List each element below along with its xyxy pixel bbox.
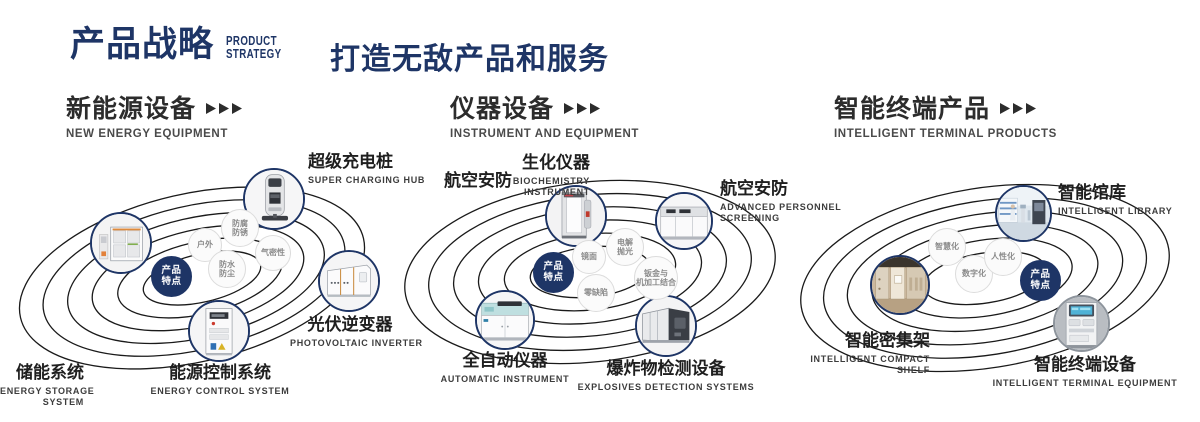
section-heading-en: INSTRUMENT AND EQUIPMENT [450,128,639,140]
node-automatic-instrument[interactable] [475,290,535,350]
section-heading-label: 新能源设备 [66,96,196,121]
feature-bubble: 电解 抛光 [606,228,644,266]
chevron-right-triple-icon [564,102,602,115]
feature-bubble-primary: 产品 特点 [533,252,574,293]
cluster-new-energy-equipment: 储能系统 ENERGY STORAGE SYSTEM 超级充电桩 SUPER C… [0,150,400,400]
inverter-cabinet-photo [320,252,378,310]
node-label-energy-storage-system: 储能系统 ENERGY STORAGE SYSTEM [0,364,84,408]
page-title-en-line2: STRATEGY [226,48,281,61]
product-strategy-infographic: 产品战略 PRODUCT STRATEGY 打造无敌产品和服务 新能源设备 NE… [0,0,1200,422]
feature-bubble: 零缺陷 [577,274,615,312]
section-heading-new-energy: 新能源设备 NEW ENERGY EQUIPMENT [66,96,244,140]
page-title-cn: 产品战略 [70,28,214,63]
feature-bubble-primary: 产品 特点 [151,256,192,297]
section-heading-en: INTELLIGENT TERMINAL PRODUCTS [834,128,1057,140]
page-title-en: PRODUCT STRATEGY [226,35,281,61]
feature-bubble: 镜面 [572,240,606,274]
node-energy-control-system[interactable] [188,300,250,362]
section-heading-label: 智能终端产品 [834,96,990,121]
page-title: 产品战略 PRODUCT STRATEGY [70,28,297,63]
node-label-explosives-detection-systems: 爆炸物检测设备 EXPLOSIVES DETECTION SYSTEMS [575,360,757,393]
section-heading-en: NEW ENERGY EQUIPMENT [66,128,244,140]
screening-machine-photo [657,194,711,248]
compact-shelf-photo [872,257,928,313]
feature-bubble: 钣金与 机加工结合 [634,256,678,300]
feature-bubble: 防水 防尘 [208,250,246,288]
section-heading-intelligent: 智能终端产品 INTELLIGENT TERMINAL PRODUCTS [834,96,1057,140]
node-intelligent-terminal-equipment[interactable] [1053,295,1110,352]
node-label-automatic-instrument: 全自动仪器 AUTOMATIC INSTRUMENT [425,352,585,385]
chevron-right-triple-icon [206,102,244,115]
feature-bubble: 防腐 防锈 [221,209,259,247]
node-intelligent-library[interactable] [995,185,1052,242]
cluster-intelligent-terminal-products: 智能馆库 INTELLIGENT LIBRARY 智能密集架 [800,150,1200,400]
node-label-energy-control-system: 能源控制系统 ENERGY CONTROL SYSTEM [110,364,330,397]
cluster-instrument-and-equipment: 航空安防 生化仪器 BIOCHEMISTRY INSTRUMENT [400,150,800,400]
library-interior-photo [997,187,1050,240]
node-explosives-detection-systems[interactable] [635,295,697,357]
node-label-intelligent-compact-shelf: 智能密集架 INTELLIGENT COMPACT SHELF [780,332,930,376]
automatic-analyzer-photo [477,292,533,348]
node-advanced-personnel-screening[interactable] [655,192,713,250]
feature-bubble-primary: 产品 特点 [1020,260,1061,301]
section-heading-instrument: 仪器设备 INSTRUMENT AND EQUIPMENT [450,96,639,140]
node-intelligent-compact-shelf[interactable] [870,255,930,315]
node-photovoltaic-inverter[interactable] [318,250,380,312]
node-label-intelligent-terminal-equipment: 智能终端设备 INTELLIGENT TERMINAL EQUIPMENT [990,356,1180,389]
node-label-biochemistry-instrument: 生化仪器 BIOCHEMISTRY INSTRUMENT [420,154,590,198]
feature-bubble: 人性化 [984,238,1022,276]
section-heading-cn: 智能终端产品 [834,96,1057,121]
node-energy-storage-system[interactable] [90,212,152,274]
section-heading-cn: 仪器设备 [450,96,639,121]
node-label-intelligent-library: 智能馆库 INTELLIGENT LIBRARY [1058,184,1172,217]
page-subtitle: 打造无敌产品和服务 [330,34,609,78]
section-heading-cn: 新能源设备 [66,96,244,121]
self-service-kiosk-photo [1055,297,1108,350]
control-cabinet-photo [190,302,248,360]
section-heading-label: 仪器设备 [450,96,554,121]
chevron-right-triple-icon [1000,102,1038,115]
node-label-photovoltaic-inverter: 光伏逆变器 PHOTOVOLTAIC INVERTER [290,316,410,349]
battery-cabinet-photo [92,214,150,272]
feature-bubble: 气密性 [255,235,291,271]
explosives-detector-photo [637,297,695,355]
